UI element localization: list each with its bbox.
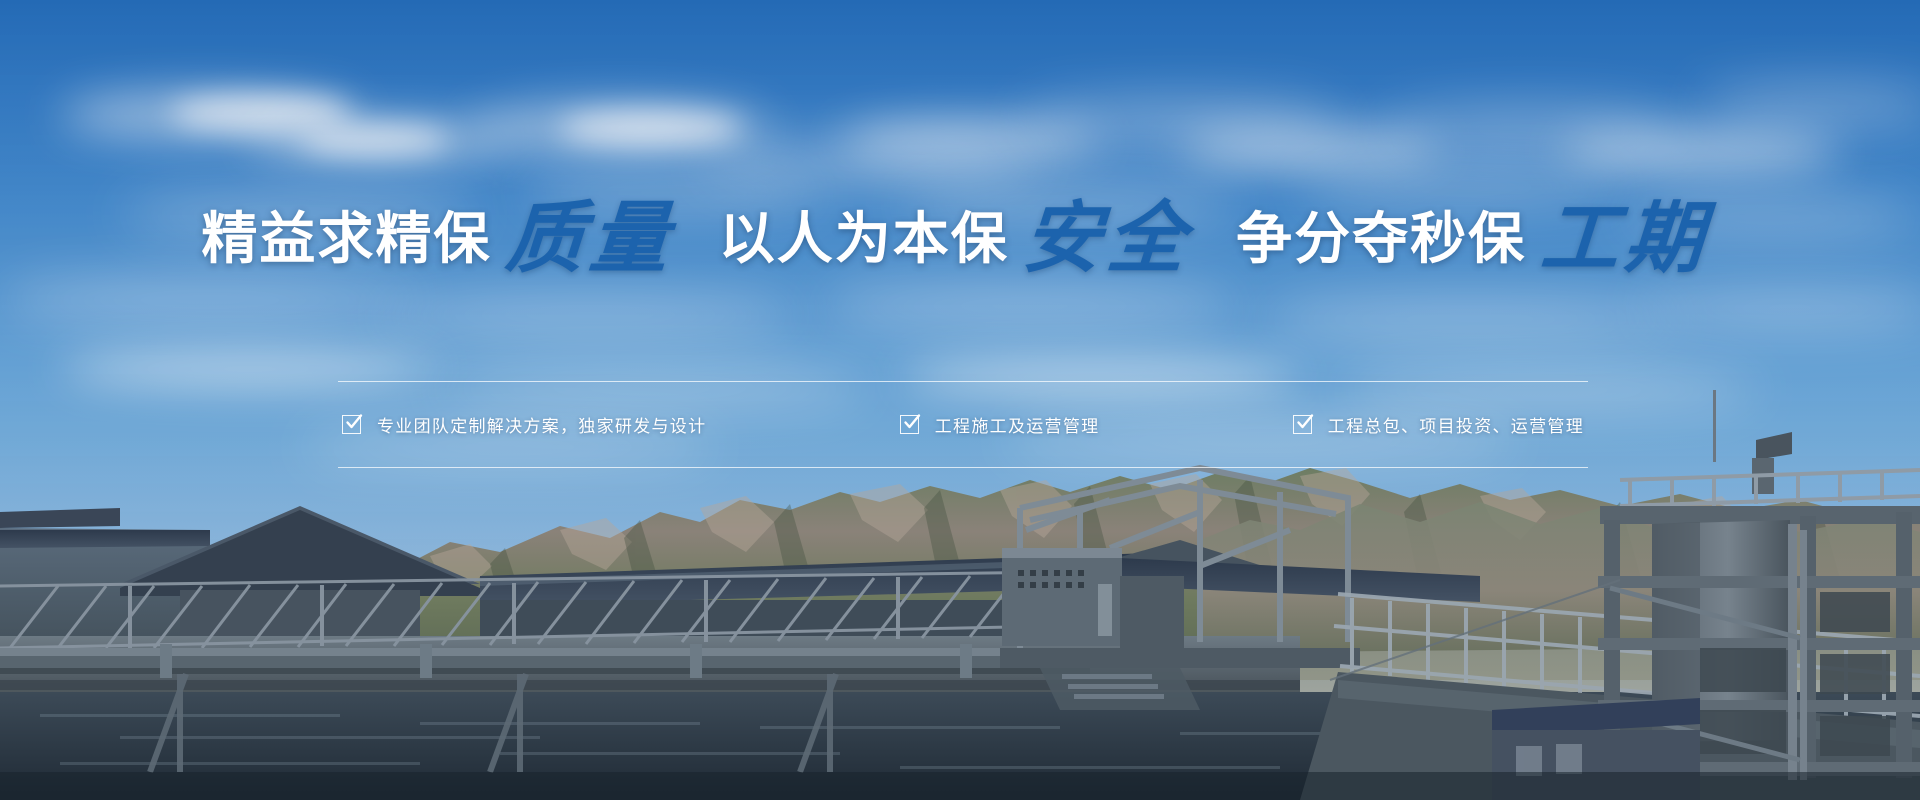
feature-label-2: 工程施工及运营管理 [935,412,1100,437]
headline-part-3: 争分夺秒保 [1236,207,1526,270]
headline-keyword-safety: 安全 [1010,200,1203,278]
checkbox-checked-icon [1293,415,1312,434]
headline-part-1: 精益求精保 [201,207,491,270]
feature-list: 专业团队定制解决方案，独家研发与设计 工程施工及运营管理 工程总包、项目投资、运… [338,381,1588,467]
headline-part-2: 以人为本保 [719,207,1009,270]
headline-keyword-quality: 质量 [493,200,686,278]
feature-item-2[interactable]: 工程施工及运营管理 [900,412,1100,437]
feature-item-3[interactable]: 工程总包、项目投资、运营管理 [1293,412,1584,437]
headline: 精益求精保 质量 以人为本保 安全 争分夺秒保 工期 [0,200,1920,278]
feature-label-1: 专业团队定制解决方案，独家研发与设计 [377,412,706,437]
checkbox-checked-icon [342,415,361,434]
hero-banner: 精益求精保 质量 以人为本保 安全 争分夺秒保 工期 专业团队定制解决方案，独家… [0,0,1920,800]
checkbox-checked-icon [900,415,919,434]
headline-keyword-schedule: 工期 [1528,200,1721,278]
feature-item-1[interactable]: 专业团队定制解决方案，独家研发与设计 [342,412,706,437]
divider-bottom [338,467,1588,468]
banner-content: 精益求精保 质量 以人为本保 安全 争分夺秒保 工期 专业团队定制解决方案，独家… [0,0,1920,800]
feature-label-3: 工程总包、项目投资、运营管理 [1328,412,1584,437]
